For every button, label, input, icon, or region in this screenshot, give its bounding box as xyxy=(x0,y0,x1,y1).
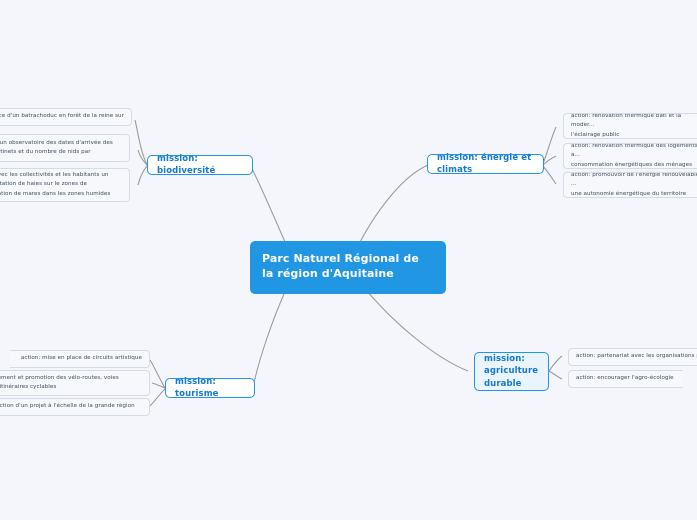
branch-label-agriculture-durable: mission: agriculture durable xyxy=(484,353,539,390)
root-node-label: Parc Naturel Régional de la région d'Aqu… xyxy=(262,252,419,280)
action-label: ...ace d'un batrachoduc en forêt de la r… xyxy=(0,112,124,121)
action-node-agriculture-1[interactable]: action: encourager l'agro-écologie xyxy=(568,370,683,388)
action-node-tourisme-2[interactable]: ...struction d'un projet à l'échelle de … xyxy=(0,398,150,416)
branch-node-agriculture-durable[interactable]: mission: agriculture durable xyxy=(474,352,549,391)
action-label: action: encourager l'agro-écologie xyxy=(576,374,674,383)
root-node[interactable]: Parc Naturel Régional de la région d'Aqu… xyxy=(250,241,446,294)
connector-agriculture-action-1 xyxy=(549,371,562,379)
connector-root-tourisme xyxy=(253,285,288,388)
branch-node-tourisme[interactable]: mission: tourisme xyxy=(165,378,255,398)
connector-root-biodiversite xyxy=(251,167,285,242)
branch-label-energie-et-climats: mission: énergie et climats xyxy=(437,152,534,177)
action-node-biodiversite-2[interactable]: ... avec les collectivités et les habita… xyxy=(0,168,130,202)
connector-biodiversite-action-1 xyxy=(138,150,147,165)
connector-agriculture-action-0 xyxy=(549,356,562,371)
action-label: ...d'un observatoire des dates d'arrivée… xyxy=(0,139,113,157)
action-node-energie-0[interactable]: action: rénovation thermique bâti et la … xyxy=(563,113,697,139)
connector-energie-action-1 xyxy=(543,156,556,165)
connector-biodiversite-action-0 xyxy=(135,120,147,165)
branch-label-biodiversite: mission: biodiversité xyxy=(157,153,243,178)
connector-tourisme-action-1 xyxy=(152,383,165,388)
action-node-energie-1[interactable]: action: rénovation thermique des logemen… xyxy=(563,143,697,169)
branch-node-energie-et-climats[interactable]: mission: énergie et climats xyxy=(427,154,544,174)
connector-energie-action-2 xyxy=(543,166,556,184)
connector-root-energie xyxy=(360,165,428,242)
action-label: action: rénovation thermique des logemen… xyxy=(571,143,697,169)
mindmap-canvas: Parc Naturel Régional de la région d'Aqu… xyxy=(0,0,697,520)
branch-label-tourisme: mission: tourisme xyxy=(175,376,245,401)
action-node-tourisme-0[interactable]: action: mise en place de circuits artist… xyxy=(10,350,150,368)
action-node-biodiversite-0[interactable]: ...ace d'un batrachoduc en forêt de la r… xyxy=(0,108,132,126)
action-node-biodiversite-1[interactable]: ...d'un observatoire des dates d'arrivée… xyxy=(0,134,130,162)
action-label: ...struction d'un projet à l'échelle de … xyxy=(0,402,135,411)
connector-energie-action-0 xyxy=(543,127,556,164)
branch-node-biodiversite[interactable]: mission: biodiversité xyxy=(147,155,253,175)
action-label: ...agement et promotion des vélo-routes,… xyxy=(0,374,119,392)
action-label: action: rénovation thermique bâti et la … xyxy=(571,113,697,139)
action-node-agriculture-0[interactable]: action: partenariat avec les organisatio… xyxy=(568,348,697,366)
action-node-energie-2[interactable]: action: promouvoir de l'énergie renouvel… xyxy=(563,172,697,198)
action-label: ... avec les collectivités et les habita… xyxy=(0,171,110,198)
connector-biodiversite-action-2 xyxy=(138,166,147,185)
action-label: action: promouvoir de l'énergie renouvel… xyxy=(571,172,697,198)
connector-root-agriculture xyxy=(362,285,468,371)
action-label: action: mise en place de circuits artist… xyxy=(21,354,142,363)
action-label: action: partenariat avec les organisatio… xyxy=(576,352,697,361)
connector-tourisme-action-0 xyxy=(150,360,165,388)
action-node-tourisme-1[interactable]: ...agement et promotion des vélo-routes,… xyxy=(0,370,150,396)
connector-tourisme-action-2 xyxy=(150,389,165,406)
